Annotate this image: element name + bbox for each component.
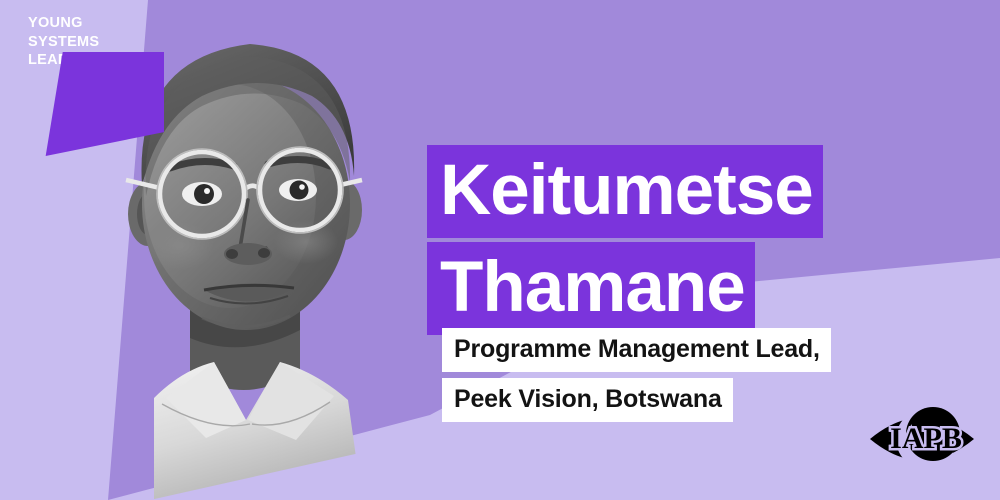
last-name: Thamane <box>427 242 755 335</box>
role-line-2: Peek Vision, Botswana <box>442 378 733 422</box>
iapb-logo-wordmark: IAPB <box>890 422 962 455</box>
first-name: Keitumetse <box>427 145 823 238</box>
iapb-eye-logo: IAPB IAPB <box>866 398 978 480</box>
speaker-role: Programme Management Lead, Peek Vision, … <box>442 328 831 422</box>
speaker-card: YOUNG SYSTEMS LEADER Keitumetse Thamane … <box>0 0 1000 500</box>
speaker-name: Keitumetse Thamane <box>427 145 823 335</box>
iapb-eye-icon: IAPB IAPB <box>866 398 978 480</box>
role-line-1: Programme Management Lead, <box>442 328 831 372</box>
